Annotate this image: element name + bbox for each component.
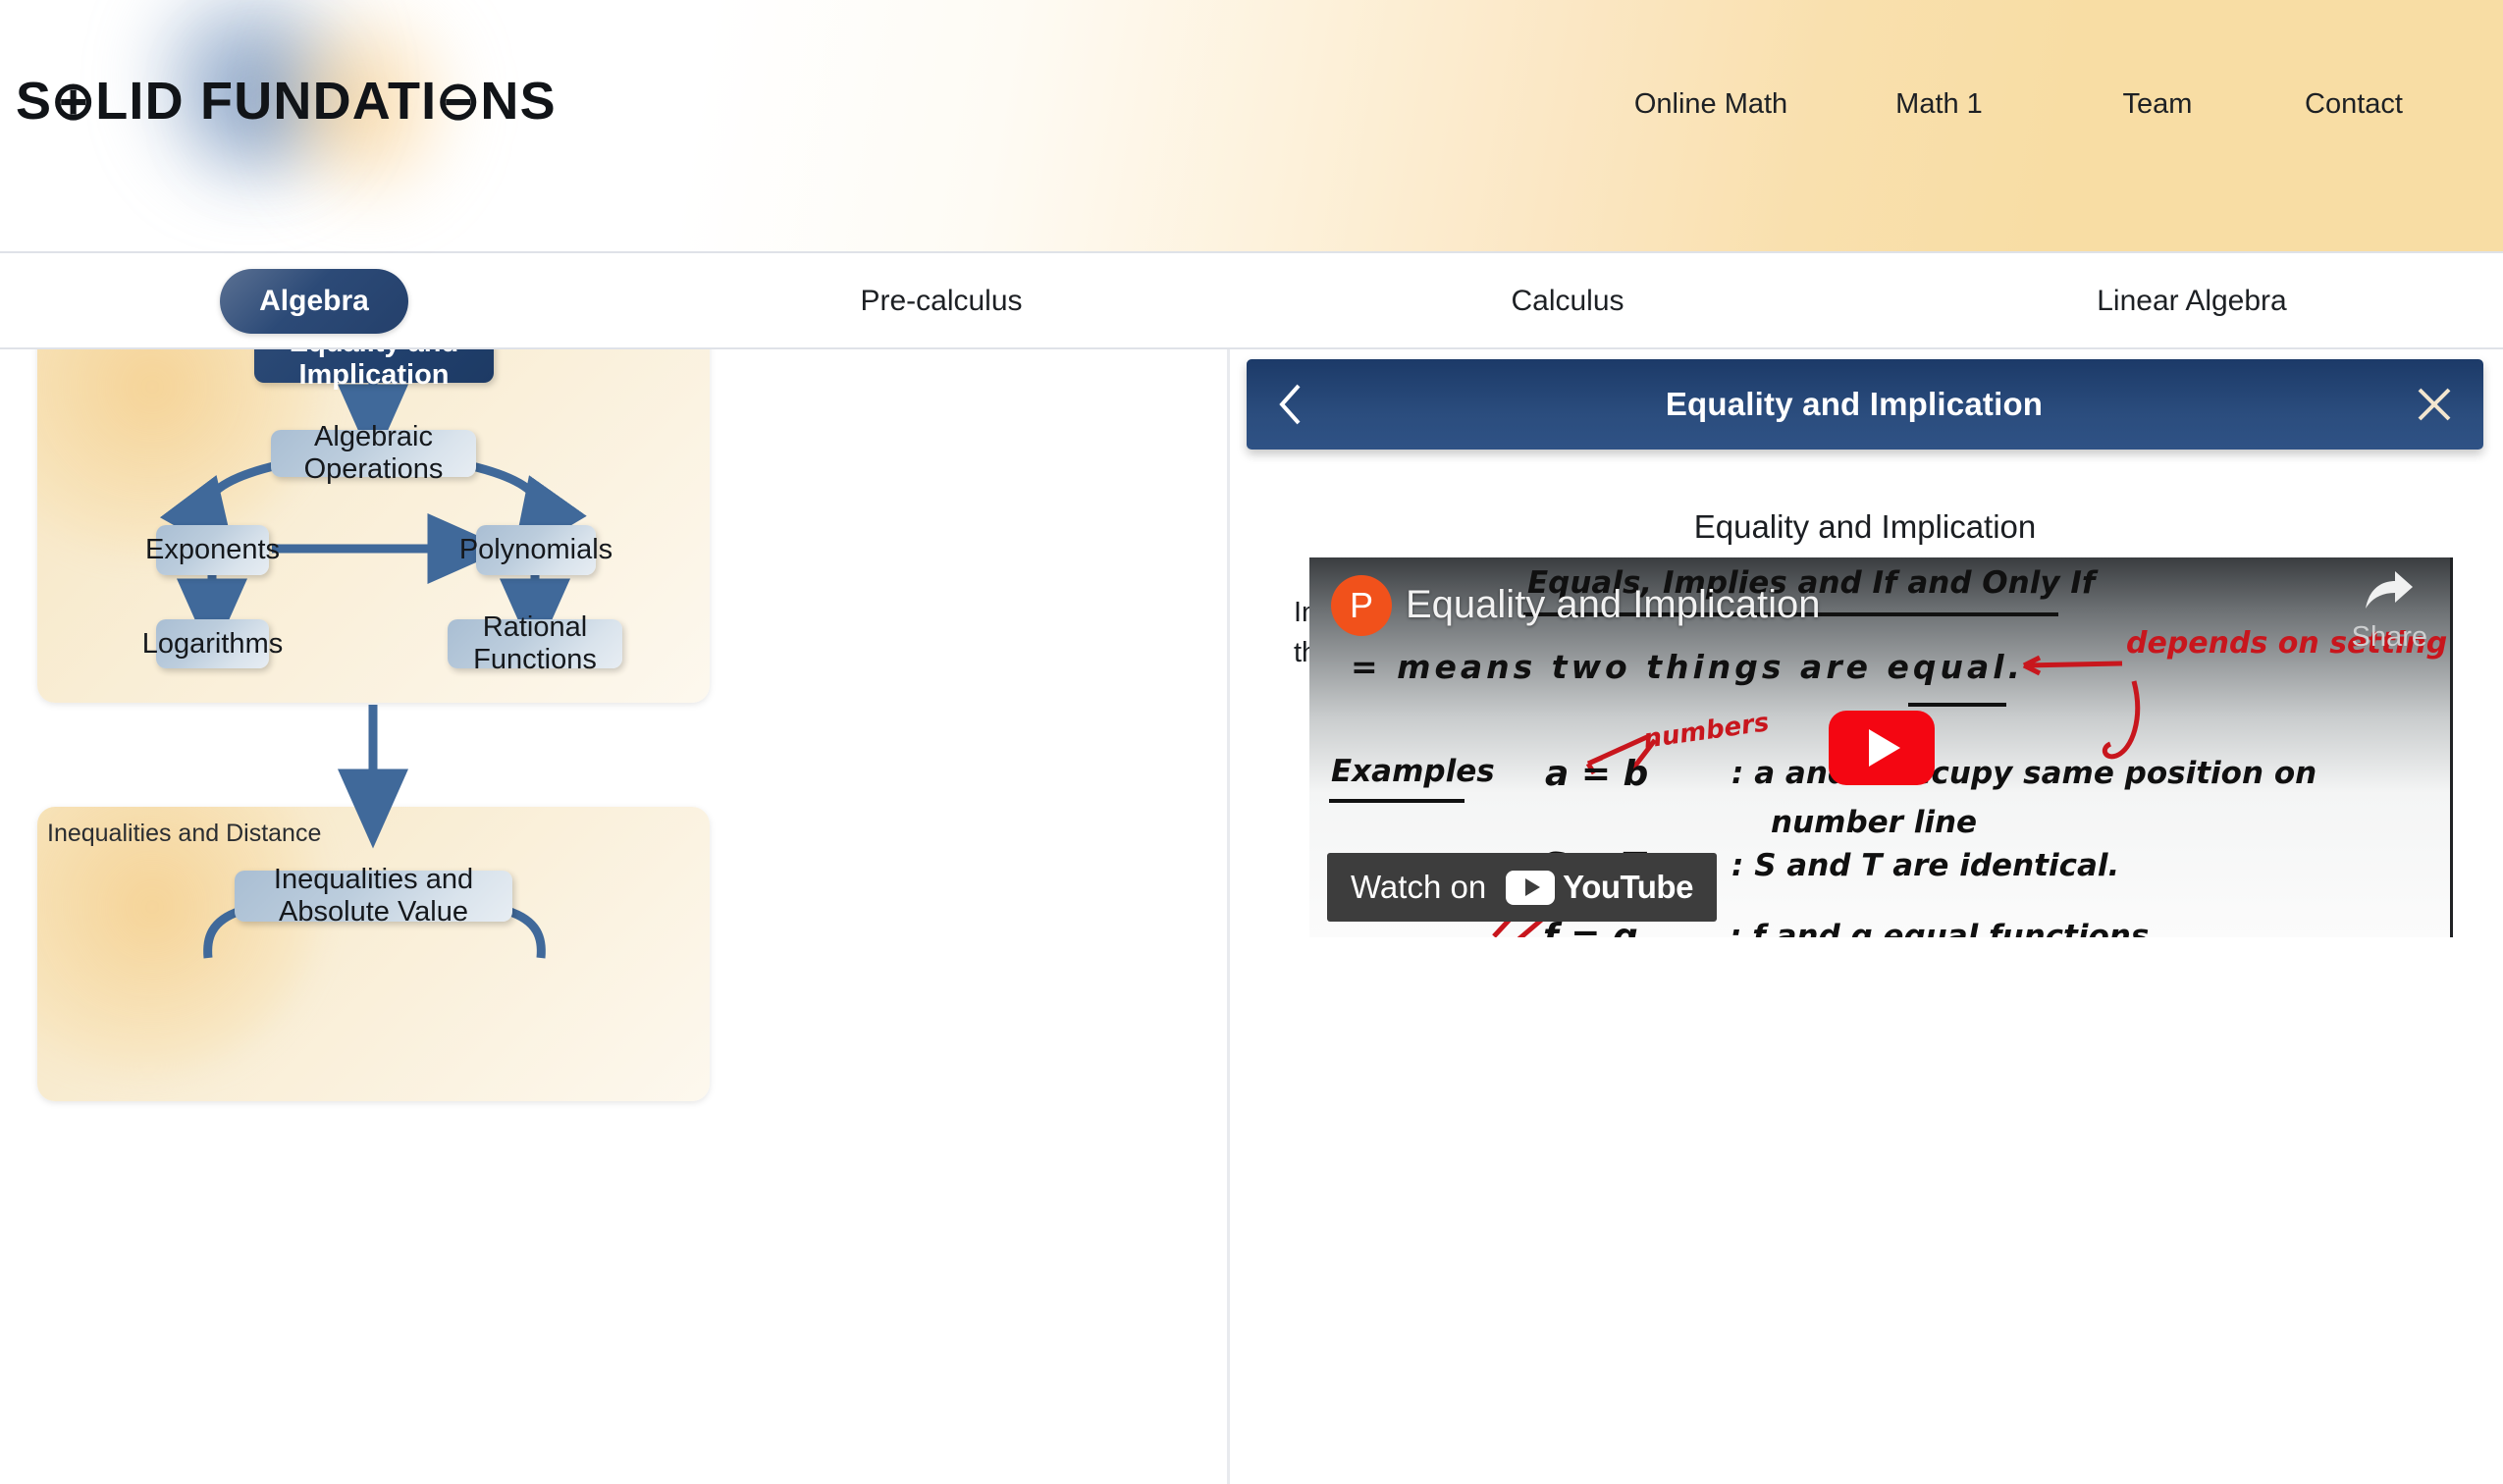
tab-algebra[interactable]: Algebra <box>0 269 628 334</box>
close-button[interactable] <box>2385 386 2483 423</box>
logo-text-part-1: S <box>16 71 52 132</box>
whiteboard-examples-label: Examples <box>1331 754 1495 789</box>
tab-calculus[interactable]: Calculus <box>1254 285 1881 318</box>
whiteboard-example-1-text-2: number line <box>1771 805 1977 840</box>
subject-tab-bar: Algebra Pre-calculus Calculus Linear Alg… <box>0 255 2503 349</box>
node-inequalities-and-absolute-value[interactable]: Inequalities and Absolute Value <box>235 871 512 922</box>
back-button[interactable] <box>1247 383 1335 426</box>
play-button[interactable] <box>1829 711 1935 785</box>
watch-on-label: Watch on <box>1351 869 1486 906</box>
primary-navigation: Online Math Math 1 Team Contact <box>1593 80 2442 129</box>
nav-item-math-1[interactable]: Math 1 <box>1829 80 2050 129</box>
whiteboard-example-1-text: : a and b occupy same position on <box>1731 756 2317 791</box>
lesson-detail-panel: Equality and Implication Equality and Im… <box>1230 349 2503 1484</box>
whiteboard-equal-underline <box>1908 703 2006 707</box>
divide-circle-icon: ⊖ <box>437 75 480 128</box>
youtube-play-icon <box>1506 871 1555 905</box>
logo-text-part-2: LID F <box>95 71 234 132</box>
channel-avatar[interactable]: P <box>1331 575 1392 636</box>
whiteboard-example-2-text: : S and T are identical. <box>1731 848 2119 883</box>
nav-item-online-math[interactable]: Online Math <box>1593 80 1829 129</box>
logo-text-part-3: UNDATI <box>234 71 437 132</box>
video-player-embed[interactable]: Equals, Implies and If and Only If = mea… <box>1309 557 2453 937</box>
whiteboard-example-3-text: : f and g equal functions <box>1730 919 2149 937</box>
logo-text-part-4: NS <box>480 71 556 132</box>
lesson-panel-title: Equality and Implication <box>1323 386 2385 423</box>
lesson-panel-body: Equality and Implication In this video, … <box>1247 471 2483 673</box>
whiteboard-line-1: = means two things are equal. <box>1351 648 2024 686</box>
plus-circle-icon: ⊕ <box>52 75 95 128</box>
tab-pre-calculus[interactable]: Pre-calculus <box>628 285 1254 318</box>
lesson-panel-header: Equality and Implication <box>1247 359 2483 450</box>
video-title-overlay: Equality and Implication <box>1406 583 1820 627</box>
nav-item-team[interactable]: Team <box>2050 80 2265 129</box>
share-button[interactable]: Share <box>2352 569 2427 654</box>
topic-map-pane[interactable]: Operations Equality and Implication Alge… <box>0 349 1227 1484</box>
nav-item-contact[interactable]: Contact <box>2265 80 2442 129</box>
site-header: S ⊕ LID F UNDATI ⊖ NS Online Math Math 1… <box>0 0 2503 253</box>
share-label: Share <box>2352 621 2427 654</box>
lesson-heading: Equality and Implication <box>1247 508 2483 546</box>
tab-algebra-label: Algebra <box>220 269 408 334</box>
whiteboard-examples-underline <box>1329 799 1465 803</box>
whiteboard-example-1-expr: a = b <box>1545 754 1648 794</box>
watch-on-youtube-button[interactable]: Watch on YouTube <box>1327 853 1717 922</box>
close-icon <box>2416 386 2453 423</box>
video-right-edge <box>2450 557 2453 937</box>
group-label-inequalities-and-distance: Inequalities and Distance <box>47 820 321 848</box>
youtube-logo: YouTube <box>1506 869 1693 906</box>
youtube-wordmark: YouTube <box>1563 869 1693 906</box>
share-arrow-icon <box>2362 569 2417 614</box>
tab-linear-algebra[interactable]: Linear Algebra <box>1881 285 2503 318</box>
chevron-left-icon <box>1278 383 1304 426</box>
group-operations-content <box>37 349 710 703</box>
site-logo[interactable]: S ⊕ LID F UNDATI ⊖ NS <box>16 71 557 132</box>
